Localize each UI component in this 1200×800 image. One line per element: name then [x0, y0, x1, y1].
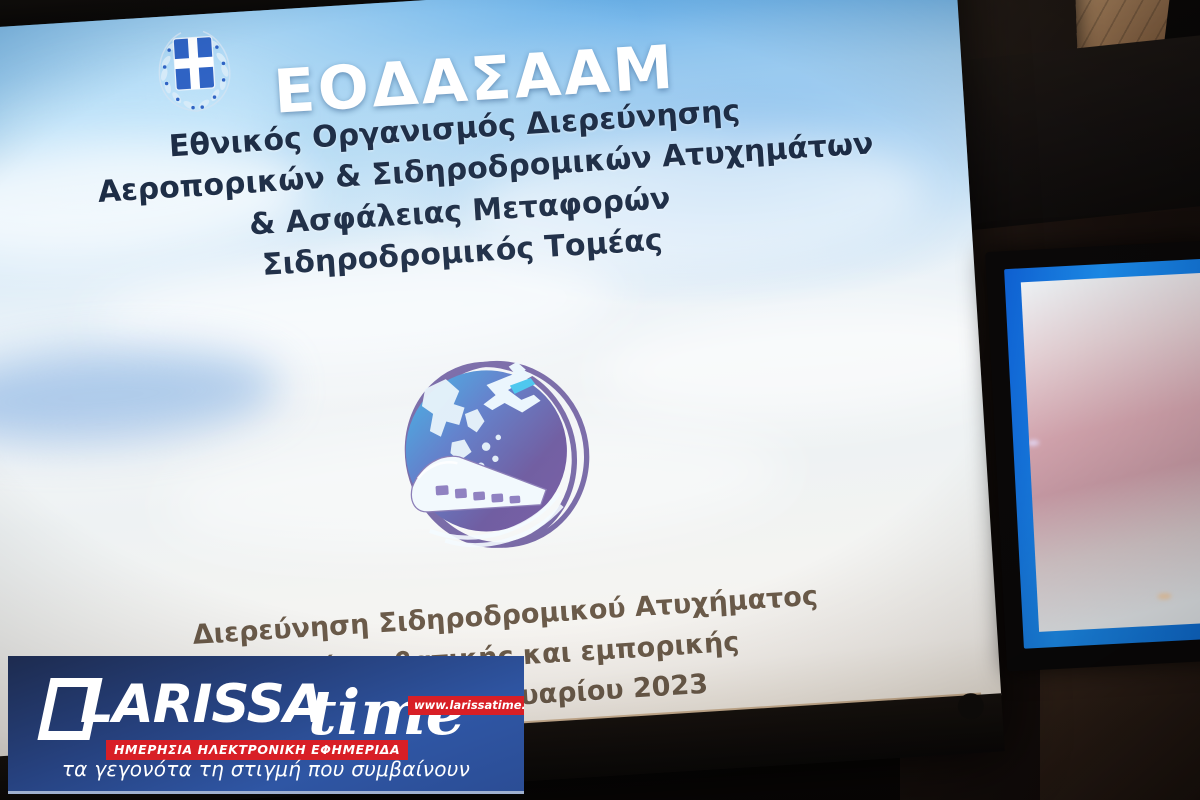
secondary-monitor: Π Δ: [985, 240, 1200, 671]
watermark-brand-row: LARISSA time www.larissatime.gr ΗΜΕΡΗΣΙΑ…: [8, 664, 524, 750]
screen-surface: ΕΟΔΑΣΑΑΜ Εθνικός Οργανισμός Διερεύνησης …: [0, 0, 1001, 759]
monitor-glint: [1027, 440, 1039, 447]
screen-rod-knob: [957, 692, 985, 720]
monitor-screen: Π Δ: [1021, 272, 1200, 632]
watermark-url: www.larissatime.gr: [408, 696, 524, 715]
greek-coat-of-arms-icon: [145, 20, 243, 122]
photo-scene: ΕΟΔΑΣΑΑΜ Εθνικός Οργανισμός Διερεύνησης …: [0, 0, 1200, 800]
monitor-glint: [1157, 593, 1171, 600]
slide-content: ΕΟΔΑΣΑΑΜ Εθνικός Οργανισμός Διερεύνησης …: [0, 0, 1001, 759]
globe-train-airplane-emblem-icon: [383, 342, 608, 567]
larissatime-watermark: LARISSA time www.larissatime.gr ΗΜΕΡΗΣΙΑ…: [8, 656, 524, 794]
monitor-bezel: Π Δ: [1004, 258, 1200, 649]
watermark-brand-main: LARISSA: [80, 674, 324, 735]
watermark-tagline: τα γεγονότα τη στιγμή που συμβαίνουν: [8, 757, 524, 781]
